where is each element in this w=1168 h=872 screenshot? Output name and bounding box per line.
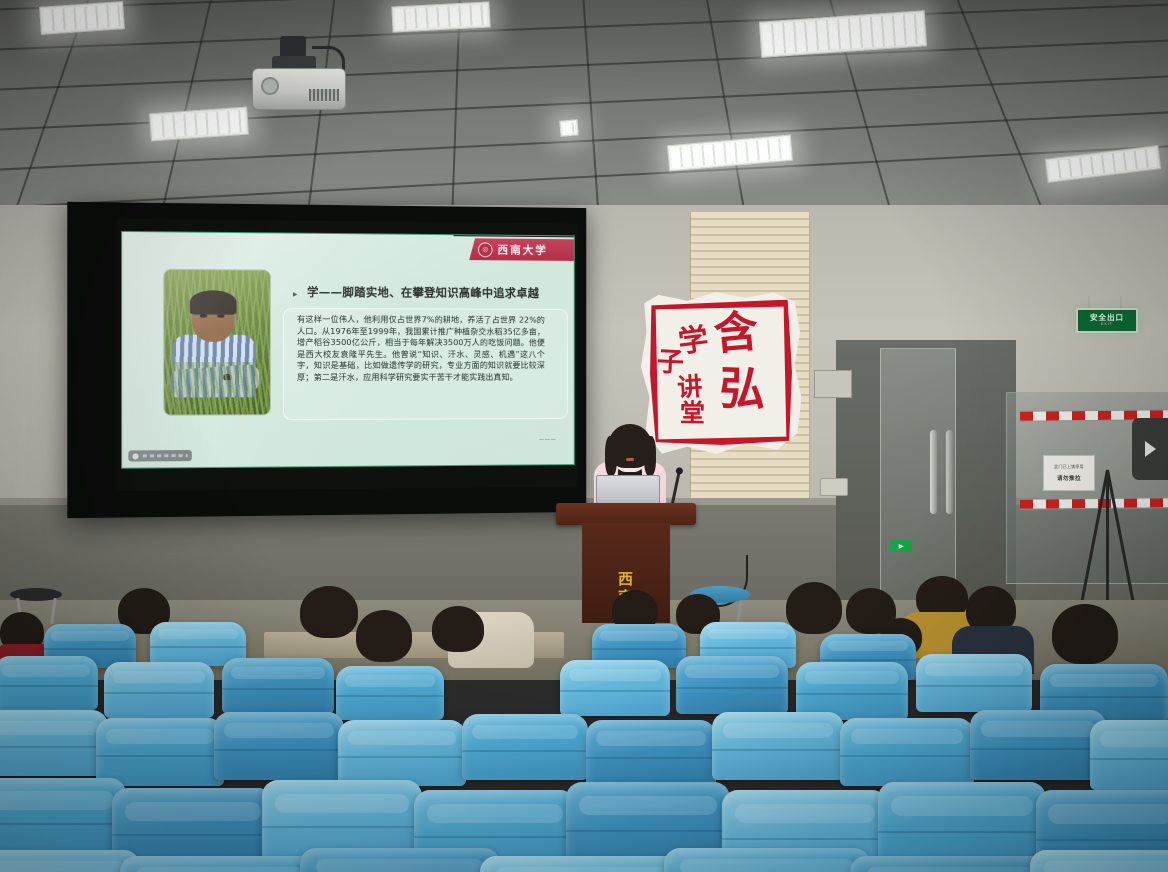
exit-sign-cn-label: 安全出口: [1090, 314, 1124, 322]
university-logo: ◎ 西南大学: [469, 238, 575, 261]
audience-head: [786, 582, 842, 634]
push-arrow-icon: [1145, 441, 1156, 457]
ceiling-light-panel: [391, 1, 490, 32]
audience-seat[interactable]: [104, 662, 214, 718]
audience-seat[interactable]: [676, 656, 788, 714]
ceiling-projector: [252, 46, 344, 108]
audience-seat[interactable]: [0, 710, 108, 776]
audience-seat[interactable]: [96, 718, 224, 786]
projector-body: [252, 68, 346, 110]
wall-box-label: [815, 371, 851, 380]
exit-sign-en-label: EXIT: [1101, 323, 1113, 327]
audience-seat[interactable]: [1090, 720, 1168, 790]
slide-title: 学——脚踏实地、在攀登知识高峰中追求卓越: [307, 284, 564, 301]
calligraphy-char: 堂: [680, 400, 705, 425]
university-seal-icon: ◎: [478, 242, 493, 257]
audience-seat[interactable]: [560, 660, 670, 716]
photo-subject-eye: [200, 315, 207, 318]
powerpoint-titlebar: 演示文稿 幻灯片放映: [454, 231, 574, 237]
audience-seat[interactable]: [338, 720, 466, 786]
projection-screen: 演示文稿 幻灯片放映 ◎ 西南大学: [67, 202, 586, 518]
slide-bullet-marker: ▸: [293, 290, 307, 299]
audience-seat[interactable]: [712, 712, 844, 780]
audience-seat[interactable]: [222, 658, 334, 714]
lecture-hall-photo: 演示文稿 幻灯片放映 ◎ 西南大学: [0, 0, 1168, 872]
audience-head: [432, 606, 484, 652]
audience-head: [300, 586, 358, 638]
audience-seat[interactable]: [586, 720, 716, 788]
calligraphy-char: 讲: [676, 374, 703, 401]
slide-signature: ———: [539, 437, 556, 443]
calligraphy-char: 含: [712, 310, 760, 358]
audience-seat[interactable]: [0, 850, 140, 872]
audience-seat[interactable]: [480, 856, 684, 872]
audience-seat[interactable]: [462, 714, 588, 780]
powerpoint-titlebar-text: 演示文稿 幻灯片放映: [454, 231, 574, 237]
projector-vent: [309, 89, 339, 101]
door-handle[interactable]: [946, 430, 953, 514]
audience-seat[interactable]: [336, 666, 444, 720]
wall-control-box[interactable]: [814, 370, 852, 398]
speaker-eye: [633, 447, 638, 449]
podium-top: [556, 503, 696, 525]
audience-seat[interactable]: [664, 848, 870, 872]
projector-lens-icon: [261, 77, 279, 95]
presenter-toolbar[interactable]: [128, 450, 192, 462]
audience-seat[interactable]: [120, 856, 320, 872]
speaker-eye: [620, 447, 625, 449]
screen-surface: 演示文稿 幻灯片放映 ◎ 西南大学: [117, 219, 577, 491]
presentation-slide: 演示文稿 幻灯片放映 ◎ 西南大学: [121, 231, 575, 469]
calligraphy-char: 弘: [719, 365, 766, 412]
speaker-hair: [608, 424, 652, 468]
ceiling-light-panel: [559, 119, 578, 137]
audience-seat[interactable]: [300, 848, 500, 872]
audience-seating: [0, 560, 1168, 872]
audience-seat[interactable]: [850, 856, 1058, 872]
door-handle[interactable]: [930, 430, 937, 514]
ceiling-light-panel: [39, 1, 125, 35]
university-name: 西南大学: [497, 242, 547, 258]
audience-seat[interactable]: [214, 712, 344, 780]
photo-subject-eye: [217, 315, 224, 318]
ceiling-tile-grid: [0, 0, 1168, 215]
slide-photo: [163, 269, 271, 416]
audience-seat[interactable]: [840, 718, 974, 786]
photo-foreground-grass: [164, 362, 270, 415]
audience-seat[interactable]: [970, 710, 1106, 780]
photo-subject-hair: [190, 290, 237, 314]
ceiling: [0, 0, 1168, 215]
presenter-controls[interactable]: [143, 454, 188, 457]
exit-direction-arrow-icon: ▶: [890, 540, 912, 552]
audience-head: [1052, 604, 1118, 664]
speaker-mouth: [626, 458, 634, 461]
emergency-exit-sign: 安全出口 EXIT: [1076, 308, 1138, 333]
audience-seat[interactable]: [916, 654, 1032, 712]
slide-body-text: 有这样一位伟人，他利用仅占世界7%的耕地，养活了占世界 22%的人口。从1976…: [297, 314, 545, 384]
exit-sign-mount: [1086, 296, 1124, 308]
presenter-menu-icon[interactable]: [132, 453, 138, 459]
wall-outlet[interactable]: [820, 478, 848, 496]
audience-seat[interactable]: [0, 656, 98, 710]
audience-seat[interactable]: [1030, 850, 1168, 872]
audience-head: [356, 610, 412, 662]
